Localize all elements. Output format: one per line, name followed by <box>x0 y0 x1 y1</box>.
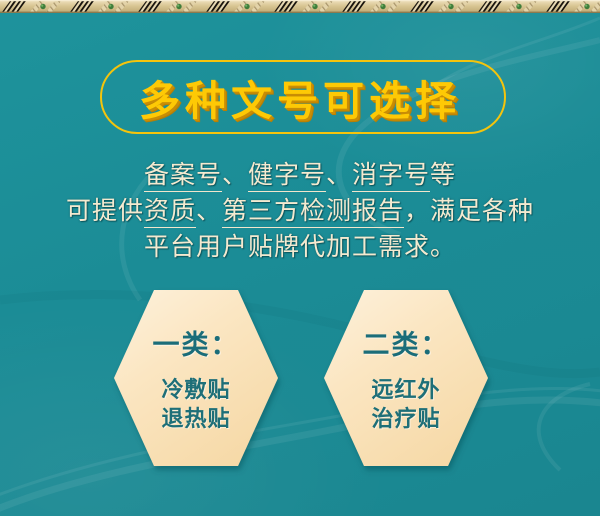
keyword-beian: 备案号 <box>144 162 222 192</box>
punct-3: 、 <box>196 198 222 225</box>
description-block: 备案号、健字号、消字号等 可提供资质、第三方检测报告，满足各种 平台用户贴牌代加… <box>0 158 600 266</box>
ornamental-top-border <box>0 0 600 13</box>
keyword-zizhi: 资质 <box>144 198 196 228</box>
category-hexagon-1[interactable]: 一类： 冷敷贴 退热贴 <box>112 288 280 468</box>
poster-canvas: 多种文号可选择 备案号、健字号、消字号等 可提供资质、第三方检测报告，满足各种 … <box>0 0 600 516</box>
prefix-keti: 可提供 <box>66 198 144 225</box>
page-title: 多种文号可选择 <box>0 60 600 134</box>
keyword-xiaozi: 消字号 <box>352 162 430 192</box>
line-3-text: 平台用户贴牌代加工需求。 <box>144 234 456 261</box>
keyword-jianzi: 健字号 <box>248 162 326 192</box>
suffix-manzu: ，满足各种 <box>404 198 534 225</box>
punct-1: 、 <box>222 162 248 189</box>
description-line-3: 平台用户贴牌代加工需求。 <box>0 230 600 266</box>
punct-2: 、 <box>326 162 352 189</box>
category-hexagon-2[interactable]: 二类： 远红外 治疗贴 <box>322 288 490 468</box>
description-line-1: 备案号、健字号、消字号等 <box>0 158 600 194</box>
keyword-third-party-report: 第三方检测报告 <box>222 198 404 228</box>
suffix-deng: 等 <box>430 162 456 189</box>
description-line-2: 可提供资质、第三方检测报告，满足各种 <box>0 194 600 230</box>
